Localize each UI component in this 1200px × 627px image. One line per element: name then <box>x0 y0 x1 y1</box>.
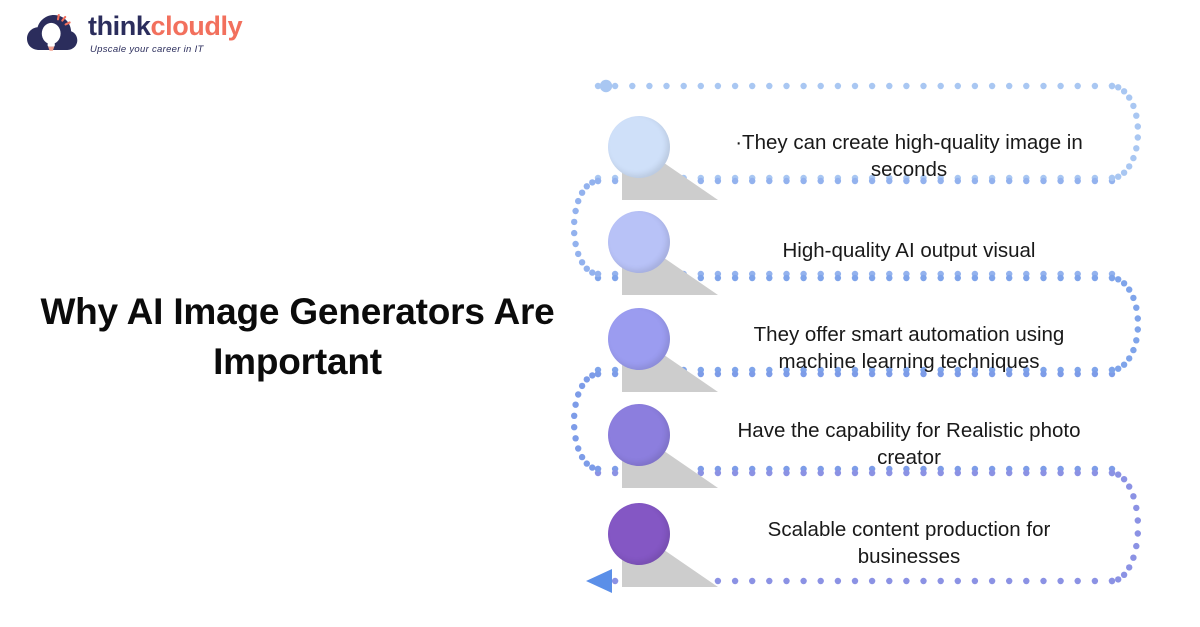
flow-item-marker <box>600 302 720 394</box>
flow-item-label: High-quality AI output visual <box>720 237 1140 264</box>
flow-item-marker <box>600 497 720 589</box>
flow-item-marker <box>600 205 720 297</box>
flow-item: High-quality AI output visual <box>600 205 1140 297</box>
cloud-lightbulb-icon <box>26 10 78 58</box>
flow-item-label: ·They can create high-quality image in s… <box>720 129 1140 183</box>
flow-item-marker <box>600 398 720 490</box>
serpentine-flow-diagram: ·They can create high-quality image in s… <box>560 60 1180 620</box>
flow-item: They offer smart automation using machin… <box>600 302 1140 394</box>
brand-tagline: Upscale your career in IT <box>90 45 242 55</box>
page-title: Why AI Image Generators Are Important <box>40 287 555 388</box>
flow-item: Scalable content production for business… <box>600 497 1140 589</box>
flow-item-label: They offer smart automation using machin… <box>720 321 1140 375</box>
flow-item-circle <box>608 308 670 370</box>
brand-logo: thinkcloudly Upscale your career in IT <box>26 10 242 58</box>
flow-item: Have the capability for Realistic photo … <box>600 398 1140 490</box>
brand-wordmark-think: think <box>88 11 151 41</box>
flow-item-circle <box>608 211 670 273</box>
brand-wordmark-cloudly: cloudly <box>151 11 243 41</box>
flow-item-marker <box>600 110 720 202</box>
flow-item-label: Have the capability for Realistic photo … <box>720 417 1140 471</box>
brand-text-block: thinkcloudly Upscale your career in IT <box>88 13 242 55</box>
flow-item-circle <box>608 404 670 466</box>
flow-item-label: Scalable content production for business… <box>720 516 1140 570</box>
brand-wordmark: thinkcloudly <box>88 13 242 40</box>
flow-item-circle <box>608 503 670 565</box>
flow-item-circle <box>608 116 670 178</box>
flow-item: ·They can create high-quality image in s… <box>600 110 1140 202</box>
flow-rows: ·They can create high-quality image in s… <box>560 60 1180 620</box>
